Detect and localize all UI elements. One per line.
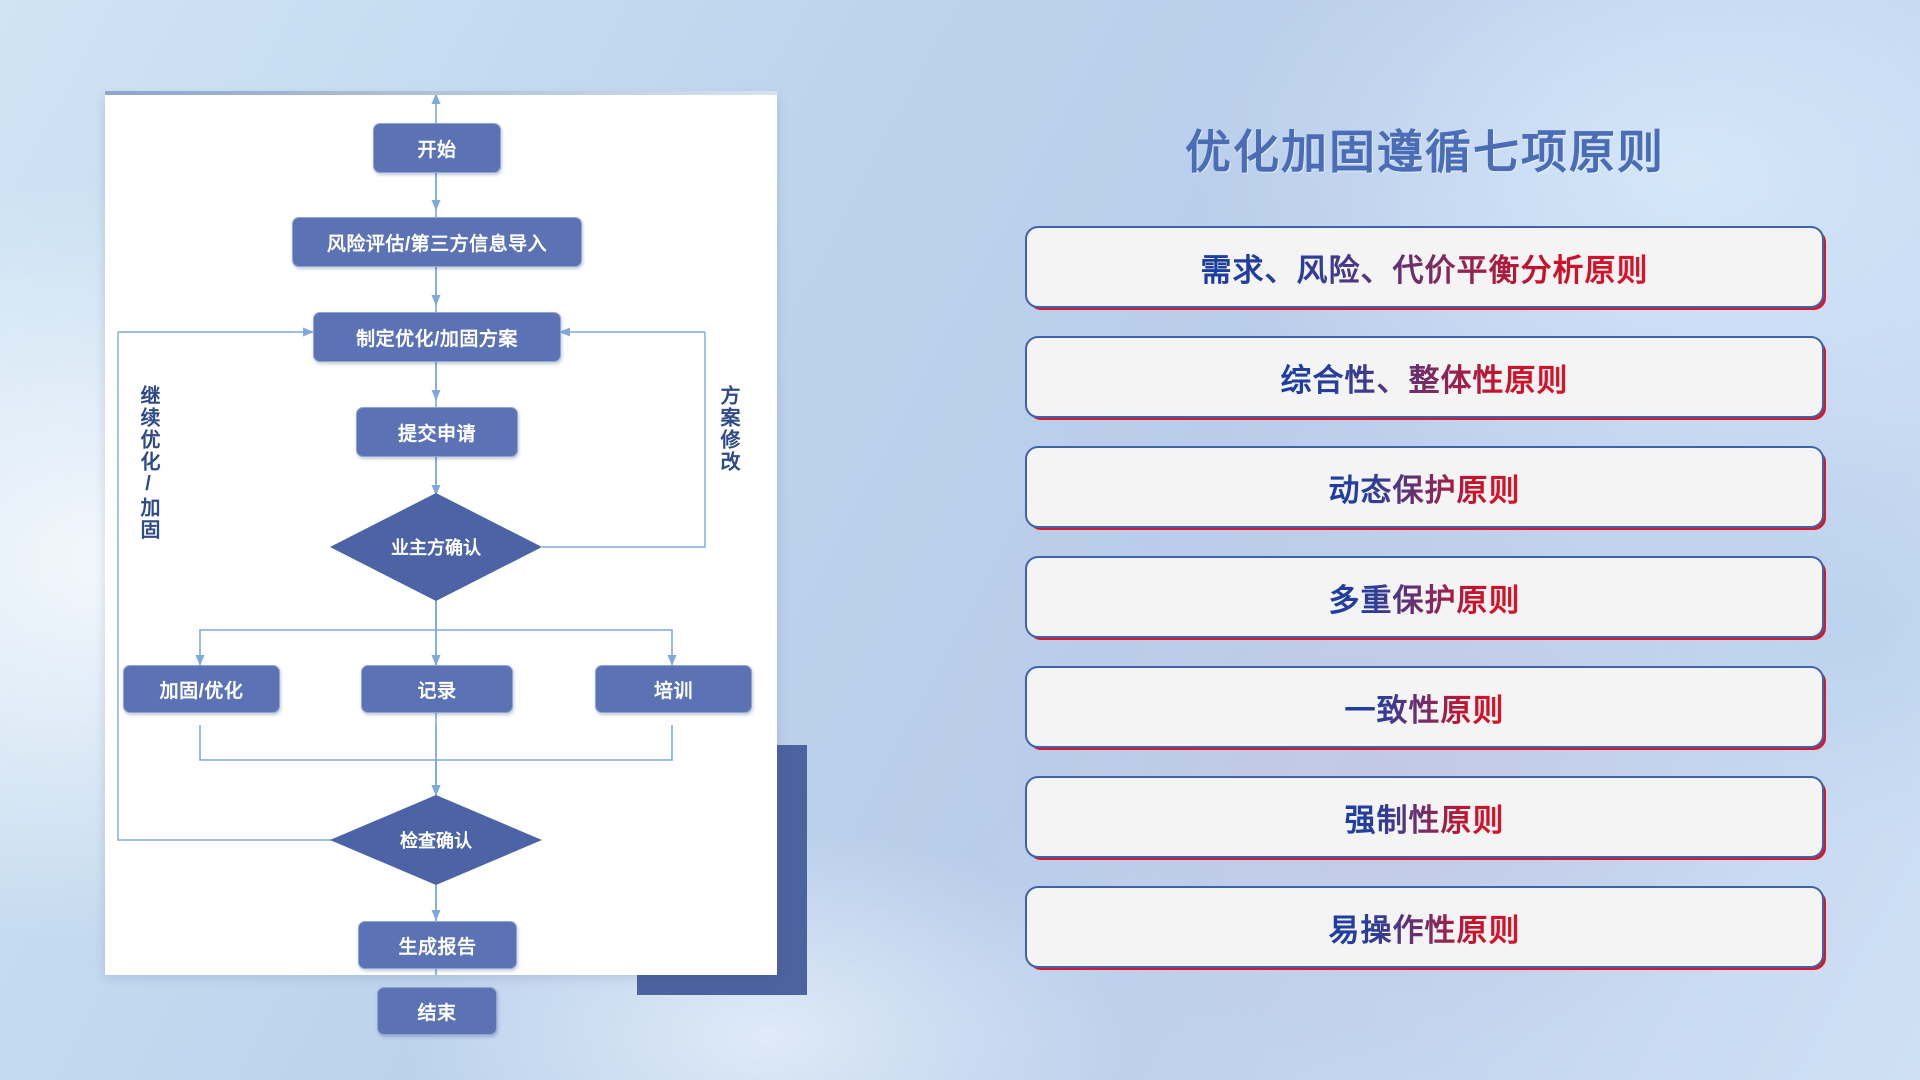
principle-label: 一致性原则 [1345, 685, 1505, 730]
flow-node-risk-assessment[interactable]: 风险评估/第三方信息导入 [292, 217, 582, 267]
flow-node-submit-application[interactable]: 提交申请 [356, 407, 518, 457]
principle-item-1[interactable]: 需求、风险、代价平衡分析原则 [1025, 226, 1824, 308]
flow-node-label: 风险评估/第三方信息导入 [327, 229, 547, 256]
principle-item-5[interactable]: 一致性原则 [1025, 666, 1824, 748]
principle-label: 多重保护原则 [1329, 575, 1521, 620]
flow-node-label: 制定优化/加固方案 [356, 324, 518, 351]
flow-decision-check-confirm[interactable]: 检查确认 [330, 795, 542, 885]
principle-label: 强制性原则 [1345, 795, 1505, 840]
flow-node-record[interactable]: 记录 [361, 665, 513, 713]
principle-item-7[interactable]: 易操作性原则 [1025, 886, 1824, 968]
principle-item-2[interactable]: 综合性、整体性原则 [1025, 336, 1824, 418]
principle-label: 综合性、整体性原则 [1281, 355, 1569, 400]
flow-edge-label-continue-optimize: 继续优化/加固 [137, 385, 158, 541]
flow-node-reinforce[interactable]: 加固/优化 [123, 665, 280, 713]
flow-edge-label-plan-revision: 方案修改 [717, 385, 738, 473]
principle-label: 动态保护原则 [1329, 465, 1521, 510]
flow-node-label: 业主方确认 [391, 534, 481, 560]
flow-node-training[interactable]: 培训 [595, 665, 752, 713]
flow-node-label: 记录 [417, 676, 456, 703]
flow-node-label: 开始 [417, 135, 456, 162]
flow-node-label: 生成报告 [398, 932, 476, 959]
principle-label: 易操作性原则 [1329, 905, 1521, 950]
flow-node-end[interactable]: 结束 [377, 987, 497, 1035]
flow-decision-owner-confirm[interactable]: 业主方确认 [330, 493, 542, 601]
flow-node-label: 结束 [417, 998, 456, 1025]
flow-node-label: 培训 [654, 676, 693, 703]
principle-label: 需求、风险、代价平衡分析原则 [1201, 245, 1649, 290]
flow-node-label: 检查确认 [400, 827, 472, 853]
principle-item-3[interactable]: 动态保护原则 [1025, 446, 1824, 528]
flow-node-label: 加固/优化 [160, 676, 244, 703]
flow-node-start[interactable]: 开始 [373, 123, 501, 173]
flowchart-diagram: 开始 风险评估/第三方信息导入 制定优化/加固方案 提交申请 业主方确认 加固/… [105, 95, 777, 975]
principles-panel: 优化加固遵循七项原则 需求、风险、代价平衡分析原则 综合性、整体性原则 动态保护… [1010, 80, 1840, 1020]
flowchart-card: 开始 风险评估/第三方信息导入 制定优化/加固方案 提交申请 业主方确认 加固/… [105, 95, 777, 975]
flow-node-generate-report[interactable]: 生成报告 [358, 921, 517, 969]
principle-item-6[interactable]: 强制性原则 [1025, 776, 1824, 858]
flow-node-make-plan[interactable]: 制定优化/加固方案 [313, 312, 561, 362]
flow-node-label: 提交申请 [398, 419, 476, 446]
principle-item-4[interactable]: 多重保护原则 [1025, 556, 1824, 638]
principles-title: 优化加固遵循七项原则 [1010, 116, 1840, 182]
